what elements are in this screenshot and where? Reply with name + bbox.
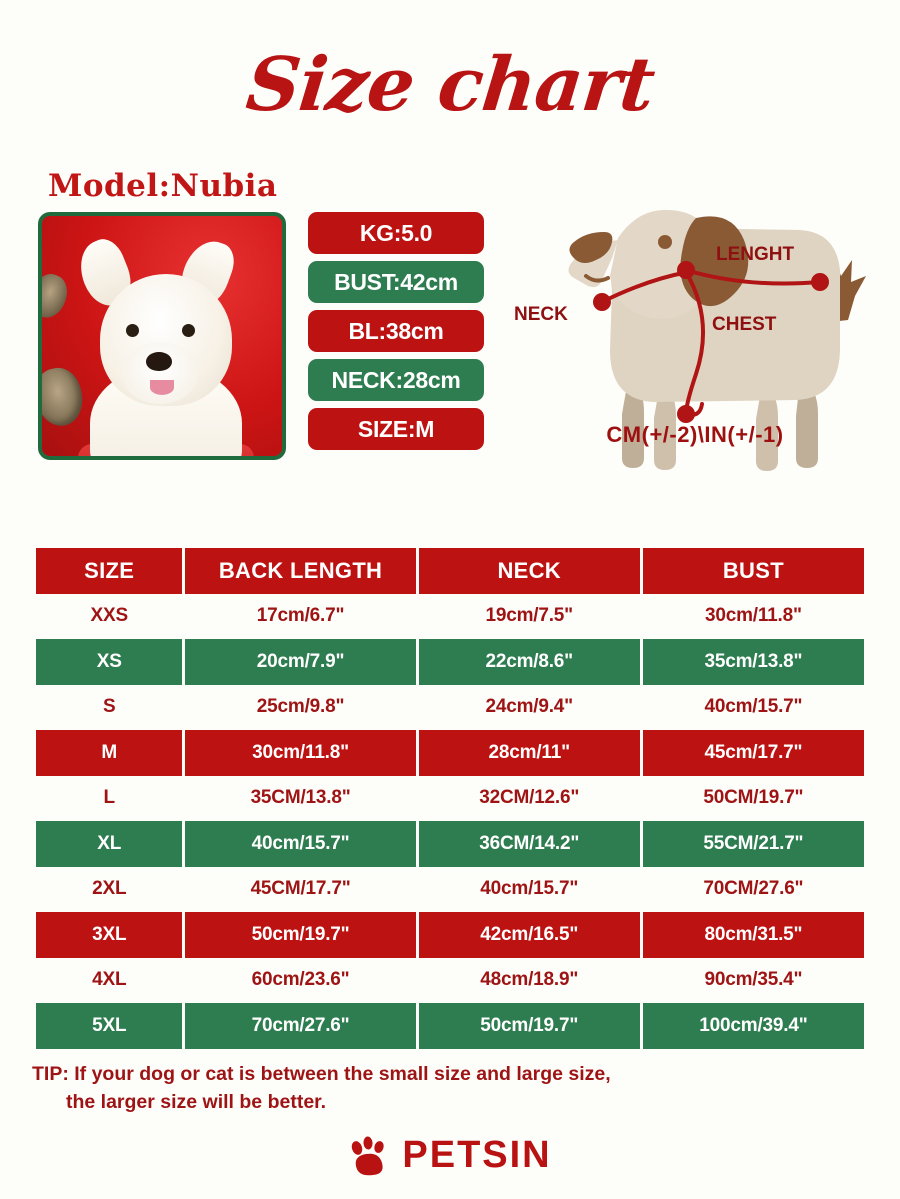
cell-neck: 40cm/15.7"	[419, 867, 640, 913]
title-section: Size chart	[0, 0, 900, 150]
cell-back-length: 30cm/11.8"	[185, 730, 415, 776]
table-row: 4XL 60cm/23.6" 48cm/18.9" 90cm/35.4"	[36, 958, 864, 1004]
cell-size: XXS	[36, 594, 182, 640]
table-row: 5XL 70cm/27.6" 50cm/19.7" 100cm/39.4"	[36, 1003, 864, 1049]
dog-tongue	[150, 380, 174, 395]
cell-neck: 42cm/16.5"	[419, 912, 640, 958]
tag-kg: KG:5.0	[308, 212, 484, 254]
cell-bust: 40cm/15.7"	[643, 685, 864, 731]
dog-measurement-diagram: LENGHT NECK CHEST	[500, 180, 890, 500]
cell-neck: 24cm/9.4"	[419, 685, 640, 731]
cell-bust: 50CM/19.7"	[643, 776, 864, 822]
cell-back-length: 40cm/15.7"	[185, 821, 415, 867]
cell-neck: 48cm/18.9"	[419, 958, 640, 1004]
table-row: L 35CM/13.8" 32CM/12.6" 50CM/19.7"	[36, 776, 864, 822]
model-photo	[38, 212, 286, 460]
cell-neck: 22cm/8.6"	[419, 639, 640, 685]
cell-bust: 30cm/11.8"	[643, 594, 864, 640]
cell-size: 3XL	[36, 912, 182, 958]
cell-bust: 45cm/17.7"	[643, 730, 864, 776]
table-row: S 25cm/9.8" 24cm/9.4" 40cm/15.7"	[36, 685, 864, 731]
cell-back-length: 70cm/27.6"	[185, 1003, 415, 1049]
tip-note: TIP: If your dog or cat is between the s…	[32, 1060, 732, 1117]
tag-neck: NECK:28cm	[308, 359, 484, 401]
dog-eye-icon	[658, 235, 672, 249]
cell-back-length: 45CM/17.7"	[185, 867, 415, 913]
cell-neck: 50cm/19.7"	[419, 1003, 640, 1049]
table-row: XS 20cm/7.9" 22cm/8.6" 35cm/13.8"	[36, 639, 864, 685]
cell-bust: 35cm/13.8"	[643, 639, 864, 685]
page-title: Size chart	[243, 48, 657, 122]
dog-eye-left	[126, 324, 139, 337]
brand-name: PETSIN	[402, 1134, 551, 1177]
cell-neck: 28cm/11"	[419, 730, 640, 776]
cell-size: XS	[36, 639, 182, 685]
tag-size: SIZE:M	[308, 408, 484, 450]
cell-size: XL	[36, 821, 182, 867]
cell-neck: 32CM/12.6"	[419, 776, 640, 822]
cell-bust: 70CM/27.6"	[643, 867, 864, 913]
tag-bust: BUST:42cm	[308, 261, 484, 303]
table-header-row: SIZE BACK LENGTH NECK BUST	[36, 548, 864, 594]
cell-back-length: 17cm/6.7"	[185, 594, 415, 640]
column-header-neck: NECK	[419, 548, 640, 594]
cell-bust: 90cm/35.4"	[643, 958, 864, 1004]
model-photo-inner	[42, 216, 282, 456]
chest-point	[677, 405, 695, 423]
model-label: Model:Nubia	[48, 168, 278, 204]
table-row: 3XL 50cm/19.7" 42cm/16.5" 80cm/31.5"	[36, 912, 864, 958]
neck-point	[593, 293, 611, 311]
footer-brand: PETSIN	[0, 1134, 900, 1177]
column-header-size: SIZE	[36, 548, 182, 594]
cell-back-length: 20cm/7.9"	[185, 639, 415, 685]
cell-size: 4XL	[36, 958, 182, 1004]
cell-size: 2XL	[36, 867, 182, 913]
diagram-label-chest: CHEST	[712, 314, 777, 335]
size-chart-table: SIZE BACK LENGTH NECK BUST XXS 17cm/6.7"…	[36, 548, 864, 1049]
cell-bust: 55CM/21.7"	[643, 821, 864, 867]
cell-size: M	[36, 730, 182, 776]
length-end-point	[811, 273, 829, 291]
cell-size: 5XL	[36, 1003, 182, 1049]
dog-eye-right	[182, 324, 195, 337]
cell-back-length: 60cm/23.6"	[185, 958, 415, 1004]
column-header-back-length: BACK LENGTH	[185, 548, 415, 594]
table-row: 2XL 45CM/17.7" 40cm/15.7" 70CM/27.6"	[36, 867, 864, 913]
paw-print-icon	[348, 1136, 392, 1176]
cell-bust: 80cm/31.5"	[643, 912, 864, 958]
table-row: XL 40cm/15.7" 36CM/14.2" 55CM/21.7"	[36, 821, 864, 867]
table-row: XXS 17cm/6.7" 19cm/7.5" 30cm/11.8"	[36, 594, 864, 640]
table-row: M 30cm/11.8" 28cm/11" 45cm/17.7"	[36, 730, 864, 776]
tolerance-note: CM(+/-2)\IN(+/-1)	[500, 422, 890, 448]
dog-diagram-svg: LENGHT NECK CHEST	[500, 180, 890, 500]
model-and-diagram-section: Model:Nubia KG:5.0 BUST:42cm BL:38cm NEC…	[0, 150, 900, 510]
cell-size: S	[36, 685, 182, 731]
cell-back-length: 25cm/9.8"	[185, 685, 415, 731]
tag-bl: BL:38cm	[308, 310, 484, 352]
diagram-label-neck: NECK	[514, 304, 568, 325]
cell-back-length: 50cm/19.7"	[185, 912, 415, 958]
cell-bust: 100cm/39.4"	[643, 1003, 864, 1049]
cell-neck: 36CM/14.2"	[419, 821, 640, 867]
model-measurement-tags: KG:5.0 BUST:42cm BL:38cm NECK:28cm SIZE:…	[308, 212, 484, 457]
column-header-bust: BUST	[643, 548, 864, 594]
diagram-label-length: LENGHT	[716, 244, 795, 265]
dog-nose	[146, 352, 172, 371]
tip-line-1: TIP: If your dog or cat is between the s…	[32, 1063, 611, 1085]
cell-neck: 19cm/7.5"	[419, 594, 640, 640]
tip-line-2: the larger size will be better.	[32, 1088, 732, 1116]
cell-back-length: 35CM/13.8"	[185, 776, 415, 822]
cell-size: L	[36, 776, 182, 822]
